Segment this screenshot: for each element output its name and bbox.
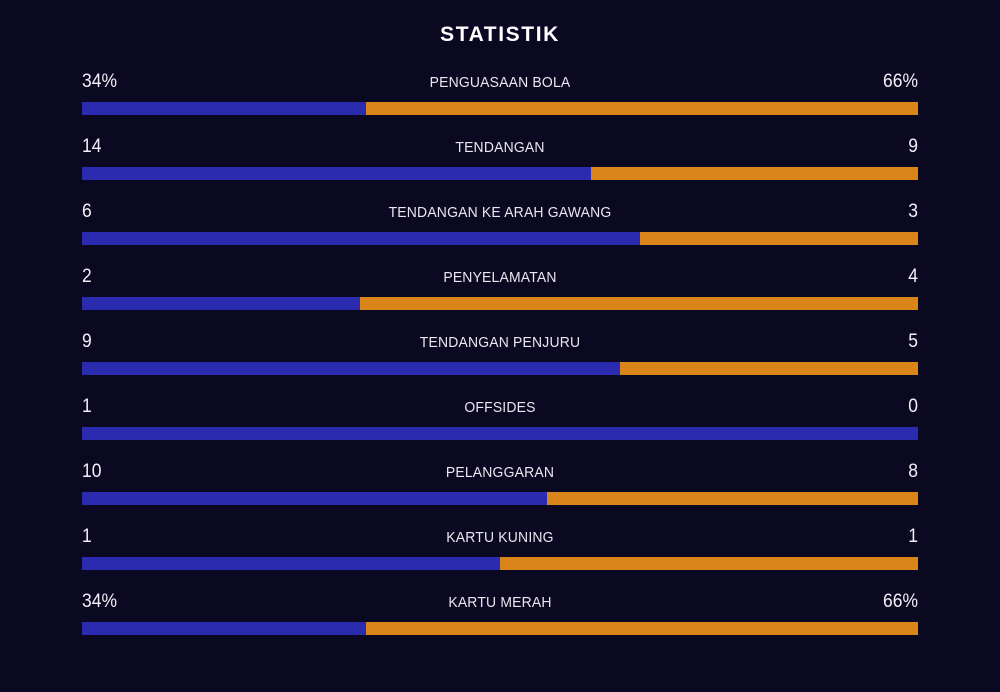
- stat-label: PELANGGARAN: [251, 460, 749, 486]
- stat-row: 9TENDANGAN PENJURU5: [82, 329, 918, 375]
- stat-label: TENDANGAN PENJURU: [251, 330, 749, 356]
- stat-row-labels: 2PENYELAMATAN4: [82, 264, 918, 290]
- stat-bar-home-fill: [82, 102, 366, 115]
- statistics-rows-list: 34%PENGUASAAN BOLA66%14TENDANGAN96TENDAN…: [82, 47, 918, 635]
- stat-row-labels: 34%KARTU MERAH66%: [82, 589, 918, 615]
- stat-row: 2PENYELAMATAN4: [82, 264, 918, 310]
- stat-bar: [82, 622, 918, 635]
- stat-home-value: 1: [82, 394, 220, 420]
- stat-away-value: 4: [780, 264, 918, 290]
- stat-bar-home-fill: [82, 427, 918, 440]
- stat-row-labels: 9TENDANGAN PENJURU5: [82, 329, 918, 355]
- stat-bar-away-fill: [640, 232, 918, 245]
- stat-bar: [82, 362, 918, 375]
- stat-away-value: 66%: [780, 69, 918, 95]
- stat-row-labels: 34%PENGUASAAN BOLA66%: [82, 69, 918, 95]
- stat-home-value: 34%: [82, 589, 220, 615]
- stat-label: KARTU KUNING: [251, 525, 749, 551]
- stat-bar-home-fill: [82, 362, 620, 375]
- stat-away-value: 8: [780, 459, 918, 485]
- stat-bar: [82, 232, 918, 245]
- stat-away-value: 1: [780, 524, 918, 550]
- stat-bar-home-fill: [82, 232, 640, 245]
- stat-bar: [82, 167, 918, 180]
- stat-row: 10PELANGGARAN8: [82, 459, 918, 505]
- stat-home-value: 6: [82, 199, 220, 225]
- stat-bar-away-fill: [366, 102, 918, 115]
- stat-bar-away-fill: [547, 492, 918, 505]
- stat-home-value: 2: [82, 264, 220, 290]
- stat-bar-home-fill: [82, 167, 591, 180]
- stat-home-value: 34%: [82, 69, 220, 95]
- stat-row-labels: 10PELANGGARAN8: [82, 459, 918, 485]
- stat-label: TENDANGAN: [251, 135, 749, 161]
- page-title: STATISTIK: [0, 0, 1000, 47]
- stat-label: TENDANGAN KE ARAH GAWANG: [251, 200, 749, 226]
- stat-bar-away-fill: [360, 297, 918, 310]
- stat-row-labels: 1OFFSIDES0: [82, 394, 918, 420]
- stat-bar-away-fill: [620, 362, 918, 375]
- stat-bar-home-fill: [82, 492, 547, 505]
- stat-bar-home-fill: [82, 557, 500, 570]
- stat-row-labels: 14TENDANGAN9: [82, 134, 918, 160]
- stat-label: KARTU MERAH: [251, 590, 749, 616]
- stat-home-value: 9: [82, 329, 220, 355]
- stat-row-labels: 6TENDANGAN KE ARAH GAWANG3: [82, 199, 918, 225]
- stat-home-value: 10: [82, 459, 220, 485]
- stat-bar-away-fill: [500, 557, 918, 570]
- stat-label: PENYELAMATAN: [251, 265, 749, 291]
- stat-bar: [82, 492, 918, 505]
- stat-bar: [82, 102, 918, 115]
- stat-bar-home-fill: [82, 297, 360, 310]
- stat-bar-away-fill: [591, 167, 918, 180]
- stat-home-value: 14: [82, 134, 220, 160]
- stat-row: 1OFFSIDES0: [82, 394, 918, 440]
- stat-away-value: 3: [780, 199, 918, 225]
- stat-home-value: 1: [82, 524, 220, 550]
- stat-bar: [82, 427, 918, 440]
- stat-away-value: 66%: [780, 589, 918, 615]
- stat-row: 34%KARTU MERAH66%: [82, 589, 918, 635]
- stat-row: 6TENDANGAN KE ARAH GAWANG3: [82, 199, 918, 245]
- stat-row: 14TENDANGAN9: [82, 134, 918, 180]
- stat-row-labels: 1KARTU KUNING1: [82, 524, 918, 550]
- stat-bar-away-fill: [366, 622, 918, 635]
- stat-label: PENGUASAAN BOLA: [251, 70, 749, 96]
- stat-bar: [82, 557, 918, 570]
- stat-away-value: 0: [780, 394, 918, 420]
- stat-away-value: 9: [780, 134, 918, 160]
- stat-row: 34%PENGUASAAN BOLA66%: [82, 69, 918, 115]
- stat-bar: [82, 297, 918, 310]
- stat-row: 1KARTU KUNING1: [82, 524, 918, 570]
- stat-away-value: 5: [780, 329, 918, 355]
- stat-label: OFFSIDES: [251, 395, 749, 421]
- match-statistics-panel: STATISTIK 34%PENGUASAAN BOLA66%14TENDANG…: [0, 0, 1000, 692]
- stat-bar-home-fill: [82, 622, 366, 635]
